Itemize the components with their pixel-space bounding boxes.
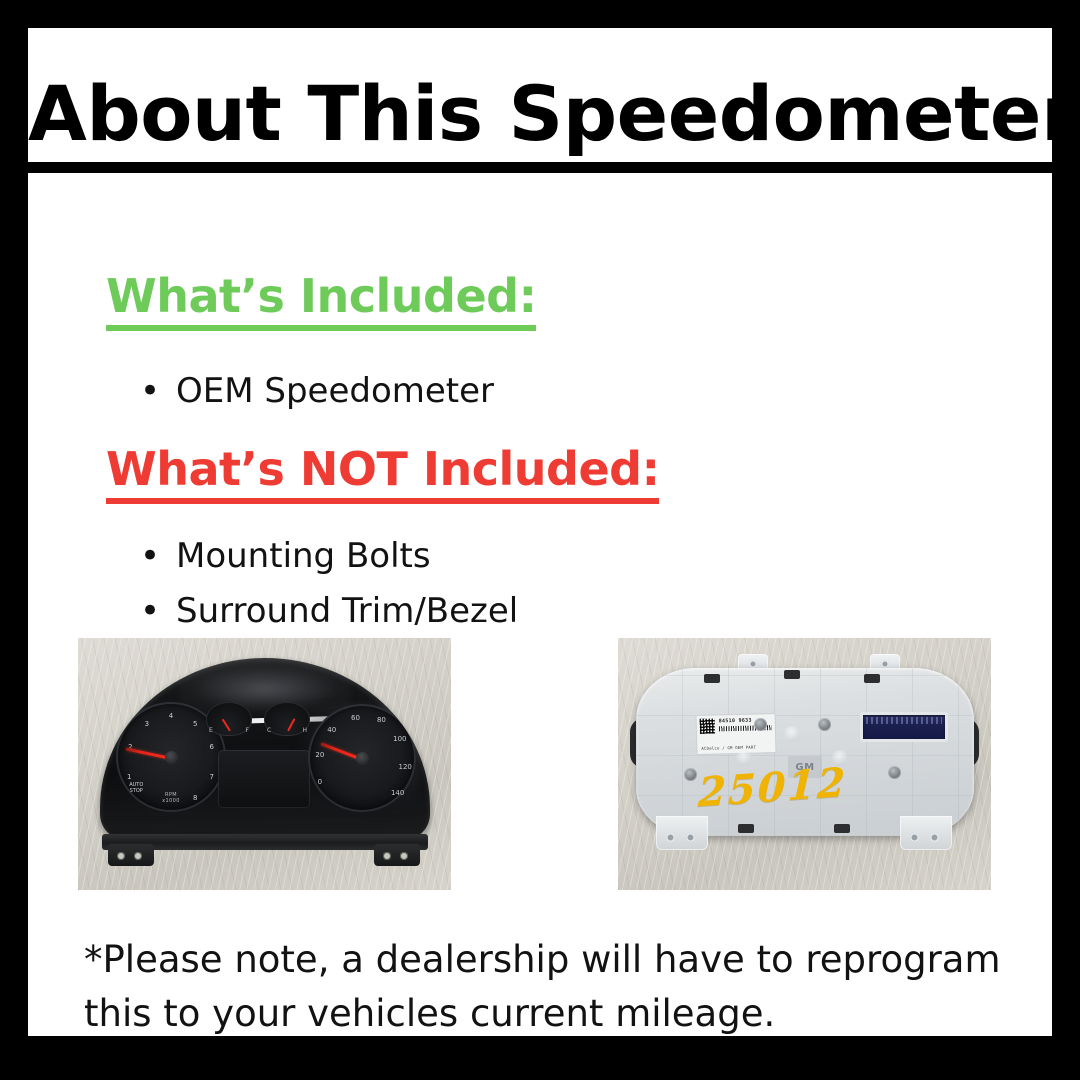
section-heading-included: What’s Included:	[106, 273, 536, 331]
mounting-hole	[749, 660, 757, 668]
not-included-list: • Mounting Bolts • Surround Trim/Bezel	[134, 529, 518, 639]
housing-boss	[832, 750, 848, 766]
retaining-clip	[738, 824, 754, 833]
wiring-connector	[860, 712, 948, 742]
mounting-hole	[383, 852, 391, 860]
tachometer-hub	[165, 751, 178, 764]
fuel-gauge-label-full: F	[246, 727, 249, 734]
mounting-tab-right	[374, 844, 420, 866]
section-heading-not-included: What’s NOT Included:	[106, 446, 659, 504]
included-list: • OEM Speedometer	[134, 364, 494, 419]
fuel-gauge-label-empty: E	[209, 727, 213, 734]
speed-label-120: 120	[399, 763, 412, 771]
mounting-hole	[910, 833, 919, 842]
housing-screw	[684, 768, 697, 781]
fuel-gauge-needle	[222, 719, 231, 732]
housing-screw	[888, 766, 901, 779]
tach-label-7: 7	[209, 773, 213, 781]
bullet-icon: •	[140, 584, 160, 639]
housing-screw	[818, 718, 831, 731]
mounting-hole	[117, 852, 125, 860]
poster-card: About This Speedometer What’s Included: …	[28, 28, 1052, 1036]
tach-unit-label: RPMx1000	[162, 792, 180, 804]
list-item: • Surround Trim/Bezel	[134, 584, 518, 639]
page-title: About This Speedometer	[28, 76, 1052, 173]
speed-label-100: 100	[393, 735, 406, 743]
temperature-gauge-needle	[287, 718, 295, 731]
mounting-tab-left	[108, 844, 154, 866]
speed-label-0: 0	[318, 778, 322, 786]
lcd-display	[218, 750, 310, 808]
housing-boss	[736, 750, 752, 766]
list-item-label: OEM Speedometer	[176, 371, 494, 411]
bullet-icon: •	[140, 529, 160, 584]
connector-pins	[866, 717, 942, 724]
speed-label-140: 140	[391, 789, 404, 797]
mounting-hole	[881, 660, 889, 668]
mounting-hole	[930, 833, 939, 842]
list-item-label: Mounting Bolts	[176, 536, 431, 576]
tach-label-1: 1	[127, 773, 131, 781]
mounting-hole	[686, 833, 695, 842]
tach-label-3: 3	[145, 720, 149, 728]
housing-screw	[754, 718, 767, 731]
poster-root: About This Speedometer What’s Included: …	[0, 0, 1080, 1080]
tach-label-8: 8	[193, 794, 197, 802]
label-subtext: ACDelco / GM OEM PART	[701, 745, 756, 751]
temp-gauge-label-cold: C	[267, 727, 271, 734]
product-photo-back: 84510 9633 ACDelco / GM OEM PART GM 2501…	[618, 638, 991, 890]
list-item: • OEM Speedometer	[134, 364, 494, 419]
tach-label-6: 6	[209, 743, 213, 751]
fuel-gauge: E F	[206, 702, 252, 736]
housing-rib-grid	[636, 668, 974, 836]
tach-label-5: 5	[193, 720, 197, 728]
mounting-hole	[400, 852, 408, 860]
list-item: • Mounting Bolts	[134, 529, 518, 584]
bottom-mounting-tab-right	[900, 816, 952, 850]
speed-label-80: 80	[377, 716, 386, 724]
bottom-mounting-tab-left	[656, 816, 708, 850]
speedometer-hub	[356, 752, 369, 765]
speedometer-gauge: 0 20 40 60 80 100 120 140	[308, 704, 416, 812]
speed-label-40: 40	[327, 726, 336, 734]
page-title-container: About This Speedometer	[28, 76, 1052, 173]
tach-label-4: 4	[169, 712, 173, 720]
qr-code-icon	[700, 719, 715, 734]
temperature-gauge: C H	[264, 702, 310, 736]
retaining-clip	[784, 670, 800, 679]
label-part-number: 84510 9633	[719, 718, 752, 725]
bullet-icon: •	[140, 364, 160, 419]
cluster-back-body: 84510 9633 ACDelco / GM OEM PART GM 2501…	[636, 668, 974, 836]
mounting-hole	[134, 852, 142, 860]
temp-gauge-label-hot: H	[302, 727, 307, 734]
retaining-clip	[834, 824, 850, 833]
mounting-hole	[666, 833, 675, 842]
auto-stop-indicator: AUTOSTOP	[129, 782, 143, 794]
housing-boss	[784, 726, 800, 742]
retaining-clip	[704, 674, 720, 683]
disclaimer-note: *Please note, a dealership will have to …	[84, 933, 1014, 1036]
product-photo-front: 1 2 3 4 5 6 7 8 AUTOSTOP RPMx1000	[78, 638, 451, 890]
speed-label-60: 60	[351, 714, 360, 722]
retaining-clip	[864, 674, 880, 683]
list-item-label: Surround Trim/Bezel	[176, 591, 518, 631]
product-photo-row: 1 2 3 4 5 6 7 8 AUTOSTOP RPMx1000	[28, 638, 1052, 898]
speed-label-20: 20	[315, 751, 324, 759]
